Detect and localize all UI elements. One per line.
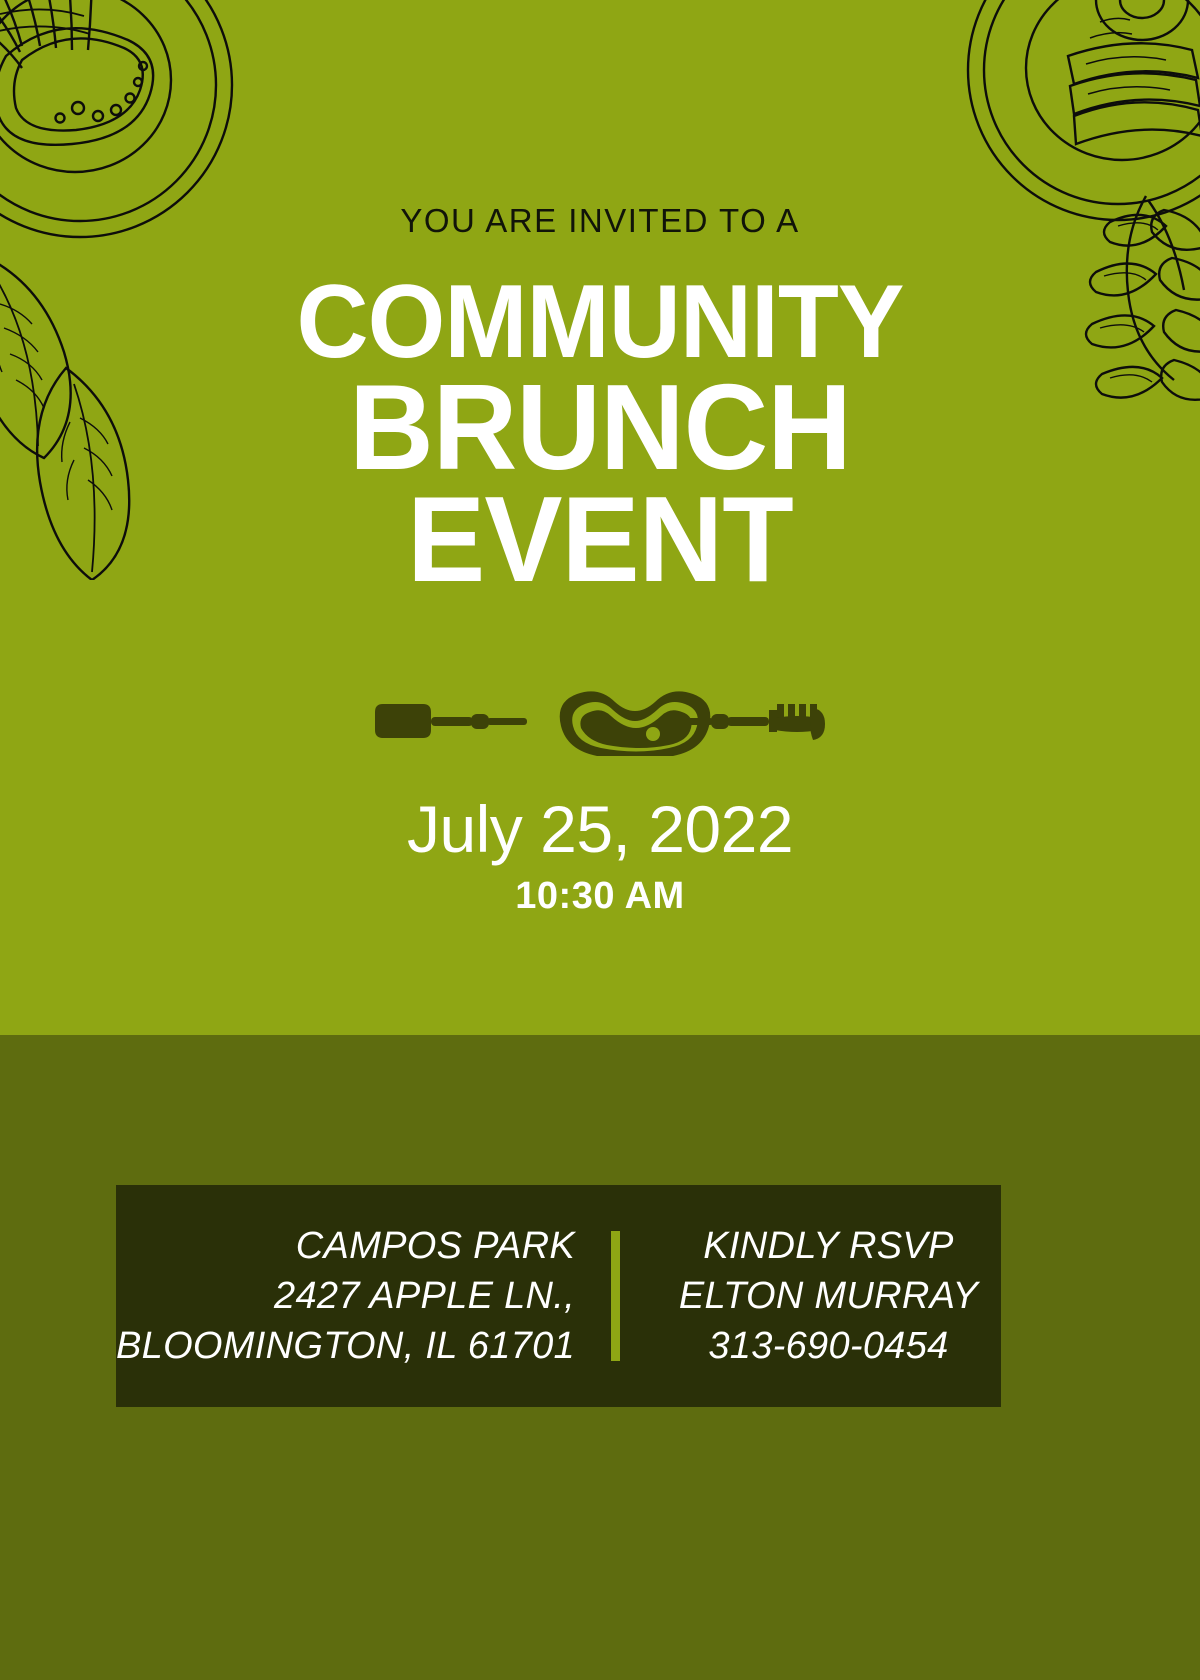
title-line-3: EVENT — [24, 483, 1176, 595]
venue-city: BLOOMINGTON, IL 61701 — [116, 1321, 575, 1371]
details-box: CAMPOS PARK 2427 APPLE LN., BLOOMINGTON,… — [116, 1185, 1001, 1407]
venue-name: CAMPOS PARK — [116, 1221, 575, 1271]
rsvp-phone: 313-690-0454 — [656, 1321, 1001, 1371]
event-time: 10:30 AM — [0, 876, 1200, 918]
invitation-poster: YOU ARE INVITED TO A COMMUNITY BRUNCH EV… — [0, 0, 1200, 1680]
invite-kicker: YOU ARE INVITED TO A — [0, 204, 1200, 237]
event-date-block: July 25, 2022 10:30 AM — [0, 795, 1200, 918]
venue-street: 2427 APPLE LN., — [116, 1271, 575, 1321]
venue-details: CAMPOS PARK 2427 APPLE LN., BLOOMINGTON,… — [116, 1221, 575, 1371]
page-title: COMMUNITY BRUNCH EVENT — [0, 275, 1200, 595]
title-line-2: BRUNCH — [24, 371, 1176, 483]
rsvp-label: KINDLY RSVP — [656, 1221, 1001, 1271]
ornament-divider — [0, 686, 1200, 761]
event-date: July 25, 2022 — [0, 795, 1200, 864]
title-line-1: COMMUNITY — [24, 275, 1176, 371]
vertical-divider — [611, 1231, 620, 1361]
spatula-icon — [375, 704, 527, 738]
utensils-and-steak-ornament — [365, 686, 835, 756]
poster-header: YOU ARE INVITED TO A COMMUNITY BRUNCH EV… — [0, 0, 1200, 595]
rsvp-details: KINDLY RSVP ELTON MURRAY 313-690-0454 — [656, 1221, 1001, 1371]
rsvp-contact-name: ELTON MURRAY — [656, 1271, 1001, 1321]
